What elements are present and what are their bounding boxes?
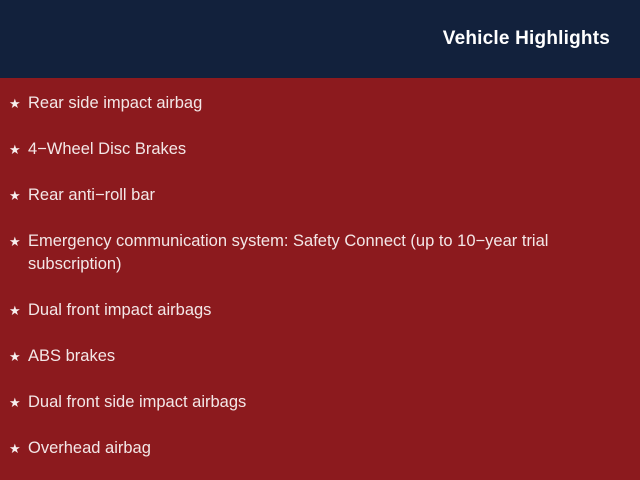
slide-header: Vehicle Highlights [0, 0, 640, 78]
vehicle-highlights-list: ★ Rear side impact airbag ★ 4−Wheel Disc… [0, 78, 640, 480]
list-item: ★ 4−Wheel Disc Brakes [9, 138, 620, 161]
star-bullet-icon: ★ [9, 184, 23, 207]
list-item-label: 4−Wheel Disc Brakes [28, 138, 620, 161]
list-item: ★ Dual front impact airbags [9, 299, 620, 322]
star-bullet-icon: ★ [9, 230, 23, 253]
list-item-label: Rear anti−roll bar [28, 184, 620, 207]
star-bullet-icon: ★ [9, 92, 23, 115]
star-bullet-icon: ★ [9, 299, 23, 322]
list-item: ★ Rear anti−roll bar [9, 184, 620, 207]
list-item: ★ Emergency communication system: Safety… [9, 230, 620, 276]
star-bullet-icon: ★ [9, 437, 23, 460]
list-item-label: Rear side impact airbag [28, 92, 620, 115]
list-item-label: Dual front side impact airbags [28, 391, 620, 414]
list-item: ★ Overhead airbag [9, 437, 620, 460]
list-item-label: Dual front impact airbags [28, 299, 620, 322]
list-item-label: ABS brakes [28, 345, 620, 368]
star-bullet-icon: ★ [9, 138, 23, 161]
vehicle-highlights-slide: Vehicle Highlights ★ Rear side impact ai… [0, 0, 640, 480]
list-item: ★ ABS brakes [9, 345, 620, 368]
page-title: Vehicle Highlights [443, 28, 610, 50]
star-bullet-icon: ★ [9, 345, 23, 368]
list-item: ★ Dual front side impact airbags [9, 391, 620, 414]
list-item-label: Emergency communication system: Safety C… [28, 230, 620, 276]
list-item-label: Overhead airbag [28, 437, 620, 460]
star-bullet-icon: ★ [9, 391, 23, 414]
list-item: ★ Rear side impact airbag [9, 92, 620, 115]
